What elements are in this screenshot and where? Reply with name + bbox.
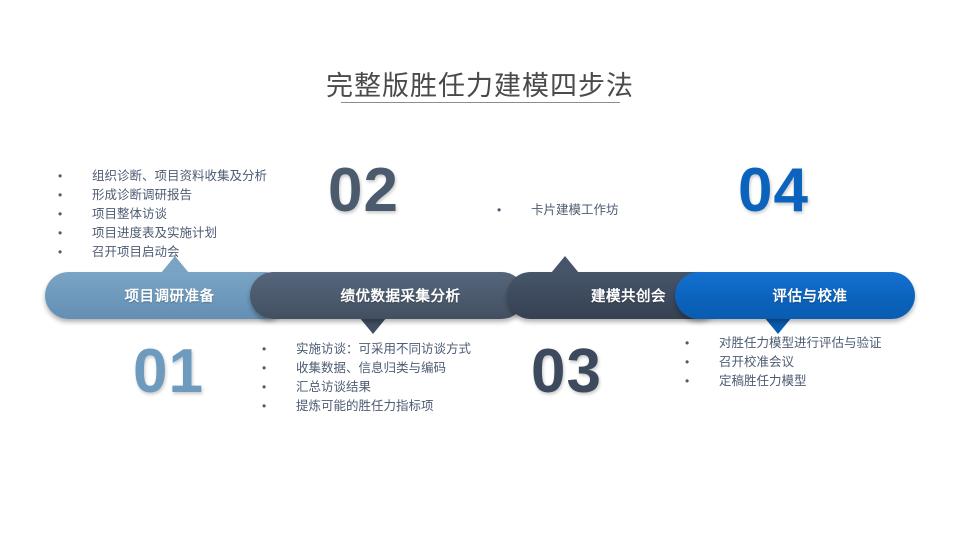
- bullet-text: 对胜任力模型进行评估与验证: [719, 334, 882, 353]
- step-2-bullet-list: •实施访谈：可采用不同访谈方式•收集数据、信息归类与编码•汇总访谈结果•提炼可能…: [262, 340, 471, 416]
- bullet-dot-icon: •: [262, 359, 296, 378]
- process-step-3-label: 建模共创会: [591, 285, 666, 306]
- bullet-item: •汇总访谈结果: [262, 378, 471, 397]
- step-1-bullet-list: •组织诊断、项目资料收集及分析•形成诊断调研报告•项目整体访谈•项目进度表及实施…: [58, 167, 267, 262]
- process-step-2[interactable]: 绩优数据采集分析: [250, 272, 525, 319]
- bullet-dot-icon: •: [262, 340, 296, 359]
- bullet-item: •定稿胜任力模型: [685, 372, 882, 391]
- bullet-dot-icon: •: [58, 224, 92, 243]
- connector-triangle-up-step3: [551, 256, 579, 273]
- connector-triangle-down-step2: [359, 317, 387, 334]
- bullet-text: 提炼可能的胜任力指标项: [296, 397, 434, 416]
- bullet-dot-icon: •: [262, 397, 296, 416]
- process-step-4[interactable]: 评估与校准: [675, 272, 915, 319]
- process-step-2-label: 绩优数据采集分析: [341, 285, 461, 306]
- bullet-dot-icon: •: [685, 334, 719, 353]
- step-3-bullet-list: •卡片建模工作坊: [497, 201, 619, 220]
- connector-triangle-down-step4: [764, 317, 792, 334]
- bullet-text: 汇总访谈结果: [296, 378, 371, 397]
- bullet-dot-icon: •: [58, 167, 92, 186]
- step-number-01: 01: [133, 341, 204, 403]
- bullet-item: •召开校准会议: [685, 353, 882, 372]
- bullet-dot-icon: •: [497, 201, 531, 220]
- bullet-text: 召开校准会议: [719, 353, 794, 372]
- process-banner: 项目调研准备 绩优数据采集分析 建模共创会 评估与校准: [45, 272, 915, 319]
- step-number-03: 03: [531, 341, 602, 403]
- bullet-text: 实施访谈：可采用不同访谈方式: [296, 340, 471, 359]
- bullet-text: 定稿胜任力模型: [719, 372, 807, 391]
- bullet-dot-icon: •: [58, 186, 92, 205]
- bullet-dot-icon: •: [685, 372, 719, 391]
- bullet-item: •组织诊断、项目资料收集及分析: [58, 167, 267, 186]
- slide-canvas: 完整版胜任力建模四步法 项目调研准备 绩优数据采集分析 建模共创会 评估与校准 …: [0, 0, 960, 540]
- bullet-item: •提炼可能的胜任力指标项: [262, 397, 471, 416]
- bullet-dot-icon: •: [58, 205, 92, 224]
- title-underline: [341, 102, 620, 103]
- bullet-text: 项目进度表及实施计划: [92, 224, 217, 243]
- bullet-item: •实施访谈：可采用不同访谈方式: [262, 340, 471, 359]
- bullet-dot-icon: •: [58, 243, 92, 262]
- bullet-item: •对胜任力模型进行评估与验证: [685, 334, 882, 353]
- process-step-1-label: 项目调研准备: [125, 285, 215, 306]
- bullet-text: 项目整体访谈: [92, 205, 167, 224]
- bullet-item: •卡片建模工作坊: [497, 201, 619, 220]
- bullet-item: •召开项目启动会: [58, 243, 267, 262]
- process-step-4-label: 评估与校准: [773, 285, 848, 306]
- page-title: 完整版胜任力建模四步法: [0, 64, 960, 103]
- bullet-item: •项目进度表及实施计划: [58, 224, 267, 243]
- bullet-item: •收集数据、信息归类与编码: [262, 359, 471, 378]
- bullet-text: 形成诊断调研报告: [92, 186, 192, 205]
- bullet-text: 召开项目启动会: [92, 243, 180, 262]
- bullet-text: 收集数据、信息归类与编码: [296, 359, 446, 378]
- bullet-text: 卡片建模工作坊: [531, 201, 619, 220]
- step-4-bullet-list: •对胜任力模型进行评估与验证•召开校准会议•定稿胜任力模型: [685, 334, 882, 391]
- bullet-item: •形成诊断调研报告: [58, 186, 267, 205]
- bullet-item: •项目整体访谈: [58, 205, 267, 224]
- bullet-text: 组织诊断、项目资料收集及分析: [92, 167, 267, 186]
- step-number-02: 02: [328, 160, 399, 222]
- step-number-04: 04: [738, 160, 809, 222]
- bullet-dot-icon: •: [262, 378, 296, 397]
- bullet-dot-icon: •: [685, 353, 719, 372]
